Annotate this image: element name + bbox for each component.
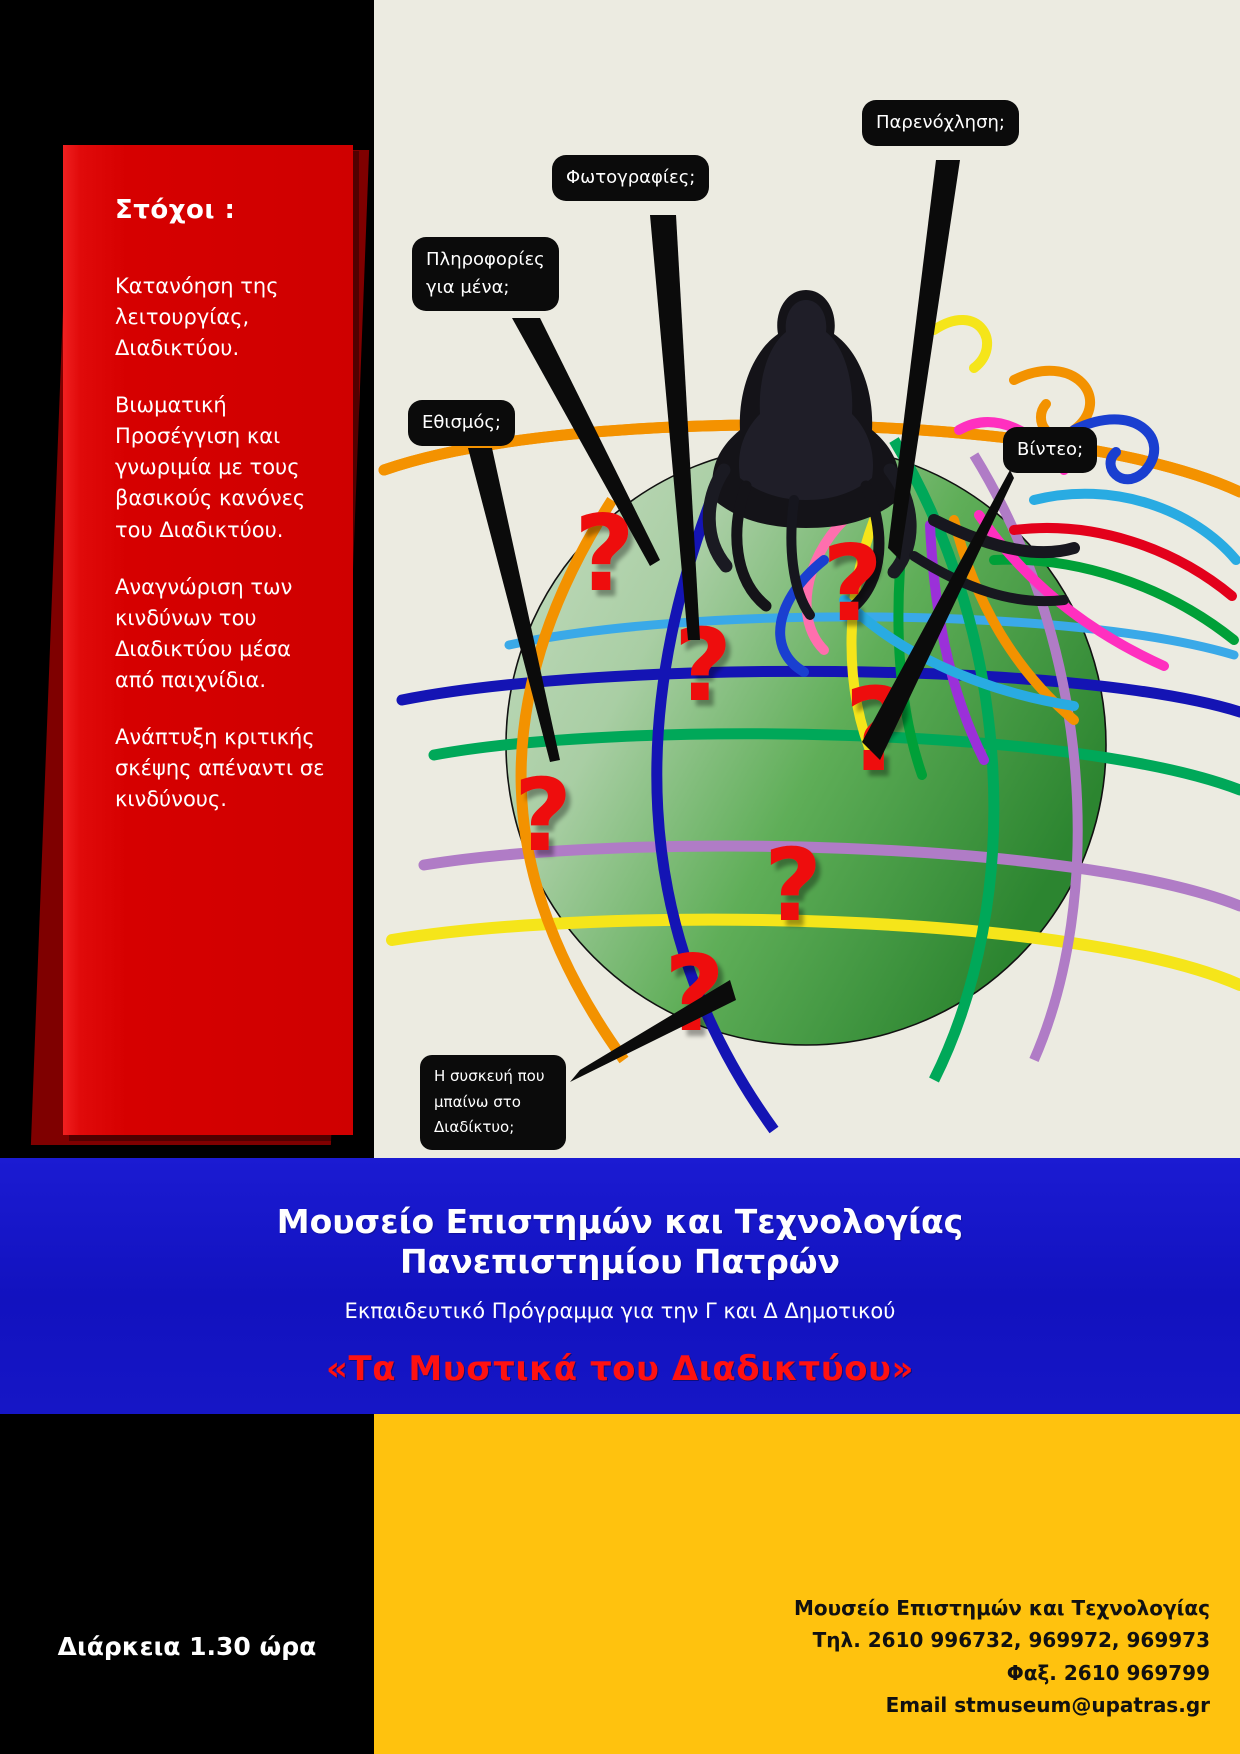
program-subtitle: Εκπαιδευτικό Πρόγραμμα για την Γ και Δ Δ… bbox=[0, 1299, 1240, 1323]
bubble-video: Βίντεο; bbox=[1003, 427, 1097, 473]
duration-text: Διάρκεια 1.30 ώρα bbox=[0, 1632, 374, 1661]
poster-root: ? ? ? ? ? ? ? Στόχοι : Κατανόηση της λει… bbox=[0, 0, 1240, 1754]
contact-line-museum: Μουσείο Επιστημών και Τεχνολογίας bbox=[374, 1592, 1240, 1624]
museum-title-line1: Μουσείο Επιστημών και Τεχνολογίας bbox=[277, 1202, 963, 1241]
pointer-device bbox=[570, 980, 736, 1082]
contact-line-fax: Φαξ. 2610 969799 bbox=[374, 1657, 1240, 1689]
pointer-info bbox=[512, 318, 660, 566]
museum-title: Μουσείο Επιστημών και Τεχνολογίας Πανεπι… bbox=[0, 1158, 1240, 1283]
contact-line-phone: Τηλ. 2610 996732, 969972, 969973 bbox=[374, 1624, 1240, 1656]
footer-band: Μουσείο Επιστημών και Τεχνολογίας Πανεπι… bbox=[0, 1158, 1240, 1414]
museum-title-line2: Πανεπιστημίου Πατρών bbox=[400, 1242, 840, 1281]
pointer-photos bbox=[650, 215, 700, 640]
bubble-info-about-me: Πληροφορίες για μένα; bbox=[412, 237, 559, 311]
pointer-video bbox=[862, 470, 1014, 760]
program-title: «Τα Μυστικά του Διαδικτύου» bbox=[0, 1349, 1240, 1389]
bubble-harassment: Παρενόχληση; bbox=[862, 100, 1019, 146]
contact-line-email: Email stmuseum@upatras.gr bbox=[374, 1689, 1240, 1721]
pointer-harassment bbox=[888, 160, 960, 560]
bubble-addiction: Εθισμός; bbox=[408, 400, 515, 446]
duration-block: Διάρκεια 1.30 ώρα bbox=[0, 1414, 374, 1754]
pointer-addiction bbox=[468, 448, 560, 762]
bubble-photos: Φωτογραφίες; bbox=[552, 155, 709, 201]
bubble-device: Η συσκευή που μπαίνω στο Διαδίκτυο; bbox=[420, 1055, 566, 1150]
contact-box: Μουσείο Επιστημών και Τεχνολογίας Τηλ. 2… bbox=[374, 1414, 1240, 1754]
